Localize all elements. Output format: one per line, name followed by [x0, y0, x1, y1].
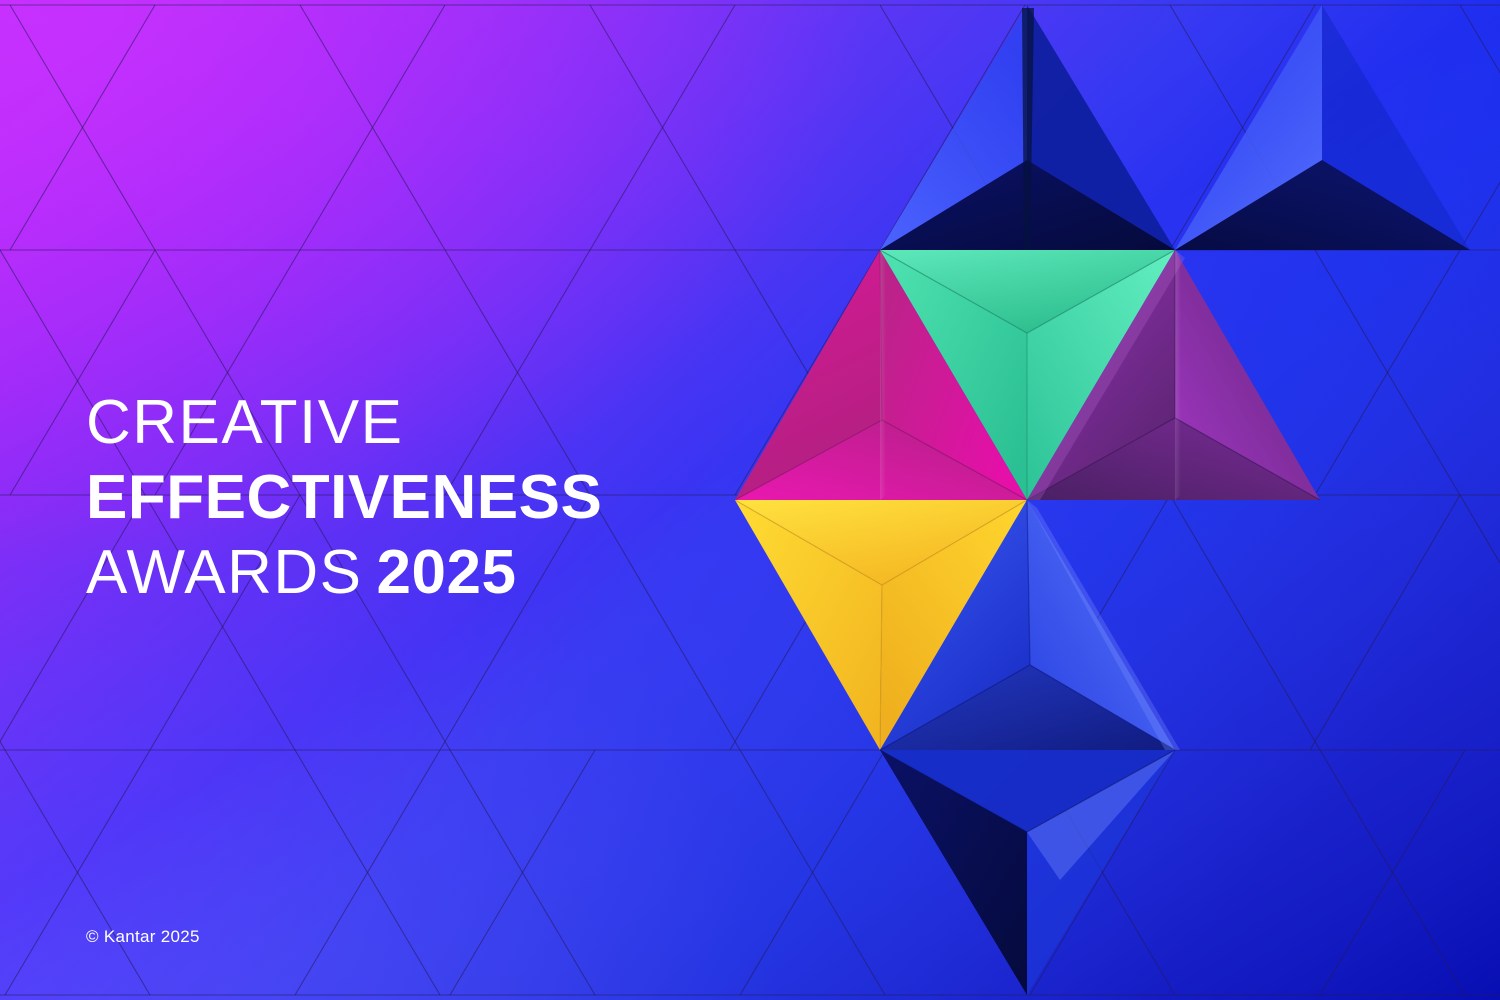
title-word-year: 2025 [377, 538, 517, 607]
blue-top-right-pyramid [1175, 5, 1470, 250]
poster-canvas: CREATIVE EFFECTIVENESS AWARDS2025 © Kant… [0, 0, 1500, 1000]
title-line-awards-year: AWARDS2025 [86, 542, 602, 604]
navy-pyramid [880, 750, 1175, 995]
copyright-notice: © Kantar 2025 [86, 927, 200, 947]
title-line-creative: CREATIVE [86, 392, 602, 454]
blue-top-left-pyramid [880, 5, 1175, 250]
title-word-awards: AWARDS [86, 538, 363, 607]
title-line-effectiveness: EFFECTIVENESS [86, 467, 602, 529]
page-title: CREATIVE EFFECTIVENESS AWARDS2025 [86, 392, 602, 604]
